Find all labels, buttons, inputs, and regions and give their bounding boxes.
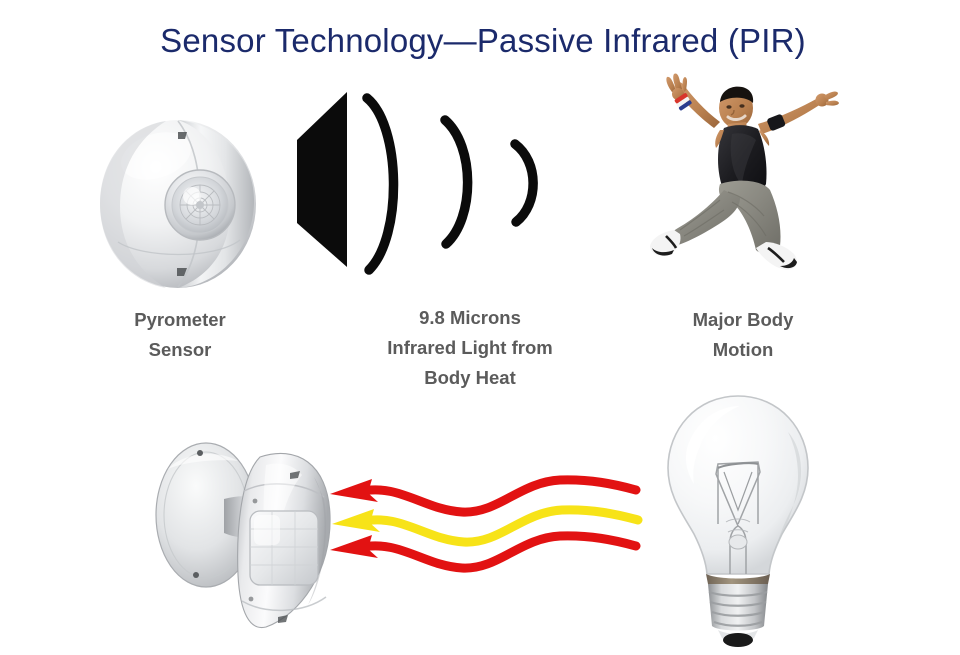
left-shoe bbox=[650, 230, 681, 256]
infrared-arrows-image bbox=[322, 474, 658, 570]
pants-left-leg bbox=[671, 190, 740, 246]
emitter-plane-shape bbox=[297, 92, 347, 267]
wave-arc-1 bbox=[367, 98, 394, 270]
caption-pyrometer-sensor: Pyrometer Sensor bbox=[80, 305, 280, 365]
infrared-broadcast-waves-icon bbox=[285, 92, 573, 297]
plate-screw-bottom bbox=[193, 572, 199, 578]
wall-mount-pir-occupancy-sensor-icon bbox=[138, 405, 348, 635]
wave-arc-2 bbox=[445, 120, 468, 244]
clear-incandescent-light-bulb-icon bbox=[638, 392, 838, 650]
wavy-infrared-arrows-icon bbox=[322, 474, 658, 570]
wall-pir-sensor-image bbox=[138, 405, 348, 635]
base-contact-tip bbox=[723, 633, 753, 647]
pyrometer-sensor-image bbox=[82, 108, 274, 298]
caption-major-body-motion: Major Body Motion bbox=[612, 305, 874, 365]
jumping-person-image bbox=[628, 72, 848, 300]
page-title: Sensor Technology—Passive Infrared (PIR) bbox=[0, 22, 960, 60]
slide-canvas: Sensor Technology—Passive Infrared (PIR) bbox=[0, 0, 960, 655]
wave-arc-3 bbox=[515, 144, 533, 222]
light-bulb-image bbox=[638, 392, 838, 650]
ceiling-dome-pir-sensor-icon bbox=[82, 108, 274, 298]
plate-screw-top bbox=[197, 450, 203, 456]
right-arm bbox=[758, 97, 824, 134]
right-shoe bbox=[756, 242, 797, 270]
right-hand bbox=[816, 92, 840, 107]
jumping-person-photo-icon bbox=[628, 72, 848, 300]
infrared-waves-image bbox=[285, 92, 573, 297]
caption-infrared-light: 9.8 Microns Infrared Light from Body Hea… bbox=[320, 303, 620, 393]
